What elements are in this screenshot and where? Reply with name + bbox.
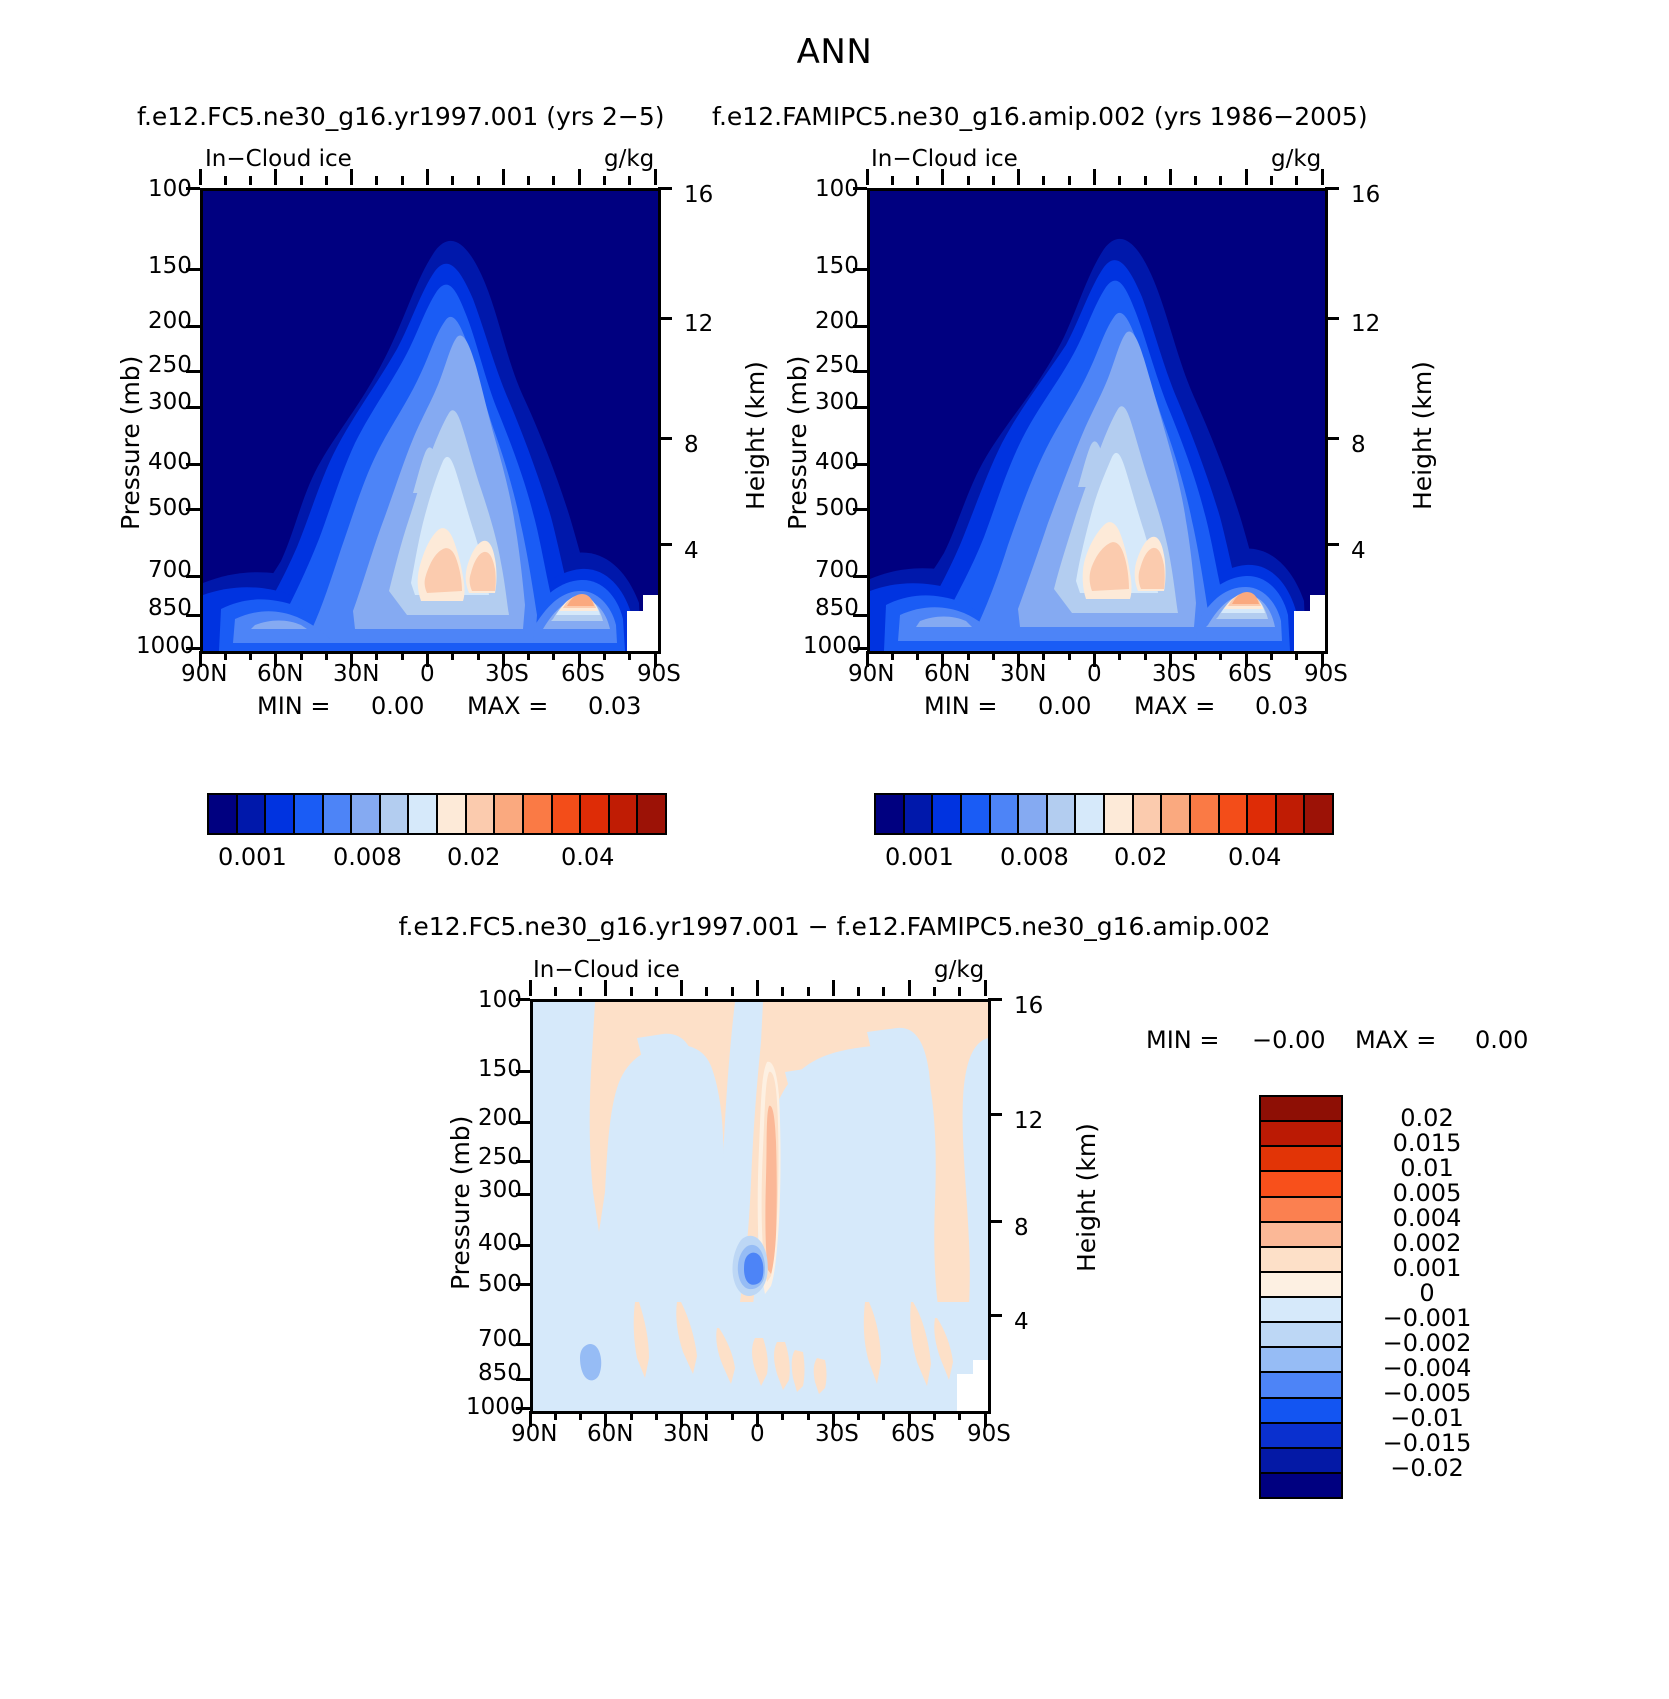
axis-tick — [967, 651, 970, 660]
height-tick-label: 12 — [1014, 1108, 1043, 1134]
axis-tick — [680, 980, 683, 996]
axis-tick — [853, 614, 867, 617]
pressure-tick-label: 250 — [478, 1144, 522, 1170]
axis-tick — [1325, 187, 1339, 190]
axis-tick — [1017, 651, 1020, 667]
axis-tick — [857, 1411, 860, 1420]
colorbar-swatch — [352, 795, 381, 833]
axis-tick — [781, 1411, 784, 1420]
colorbar-tick-label: 0 — [1352, 1279, 1502, 1307]
colorbar-swatch — [991, 795, 1020, 833]
axis-tick — [300, 176, 303, 185]
figure-season-title: ANN — [0, 32, 1669, 72]
axis-tick — [325, 651, 328, 660]
axis-tick — [516, 998, 530, 1001]
axis-tick — [658, 543, 672, 546]
axis-tick — [1118, 176, 1121, 185]
colorbar-swatch — [524, 795, 553, 833]
diff-panel-min-label: MIN = — [1146, 1026, 1219, 1054]
height-tick-label: 16 — [684, 182, 713, 208]
pressure-tick-label: 700 — [815, 557, 859, 583]
axis-tick — [933, 987, 936, 996]
axis-tick — [516, 1121, 530, 1124]
axis-tick — [1042, 176, 1045, 185]
axis-tick — [984, 980, 987, 996]
axis-tick — [866, 651, 869, 667]
colorbar-tick-label: 0.015 — [1352, 1129, 1502, 1157]
axis-tick — [186, 370, 200, 373]
colorbar-tick-label: −0.004 — [1352, 1354, 1502, 1382]
colorbar-swatch — [553, 795, 582, 833]
axis-tick — [603, 651, 606, 660]
colorbar-swatch — [1261, 1223, 1341, 1248]
colorbar-tick-label: −0.002 — [1352, 1329, 1502, 1357]
axis-tick — [958, 1411, 961, 1420]
lat-tick-label: 30S — [815, 1421, 859, 1447]
axis-tick — [516, 1343, 530, 1346]
colorbar-tick-label: 0.008 — [1000, 843, 1069, 871]
left-panel-y2-axis-label: Height (km) — [741, 361, 770, 510]
axis-tick — [516, 1193, 530, 1196]
axis-tick — [516, 1407, 530, 1410]
diff-panel-max-value: 0.00 — [1475, 1026, 1528, 1054]
diff-panel-min-value: −0.00 — [1252, 1026, 1326, 1054]
colorbar-tick-label: 0.001 — [218, 843, 287, 871]
axis-tick — [426, 169, 429, 185]
colorbar-tick-label: 0.002 — [1352, 1229, 1502, 1257]
lat-tick-label: 60S — [1228, 661, 1272, 687]
axis-tick — [249, 651, 252, 660]
axis-tick — [1093, 169, 1096, 185]
axis-tick — [274, 169, 277, 185]
axis-tick — [1325, 437, 1339, 440]
axis-tick — [941, 169, 944, 185]
axis-tick — [655, 987, 658, 996]
colorbar-tick-label: 0.04 — [1228, 843, 1281, 871]
lat-tick-label: 60N — [257, 661, 303, 687]
axis-tick — [1068, 651, 1071, 660]
right-panel-header-units: g/kg — [1271, 146, 1321, 172]
lat-tick-label: 30S — [485, 661, 529, 687]
pressure-tick-label: 400 — [148, 449, 192, 475]
colorbar-swatch — [1261, 1424, 1341, 1449]
lat-tick-label: 60N — [587, 1421, 633, 1447]
axis-tick — [1245, 651, 1248, 667]
axis-tick — [578, 651, 581, 667]
lat-tick-label: 30N — [1000, 661, 1046, 687]
right-panel-title: f.e12.FAMIPC5.ne30_g16.amip.002 (yrs 198… — [712, 102, 1368, 131]
axis-tick — [604, 980, 607, 996]
axis-tick — [916, 651, 919, 660]
height-tick-label: 8 — [684, 432, 699, 458]
axis-tick — [426, 651, 429, 667]
axis-tick — [853, 463, 867, 466]
colorbar-swatch — [1261, 1449, 1341, 1474]
lat-tick-label: 90N — [848, 661, 894, 687]
axis-tick — [224, 651, 227, 660]
colorbar-swatch — [1261, 1248, 1341, 1273]
lat-tick-label: 30N — [333, 661, 379, 687]
axis-tick — [199, 169, 202, 185]
colorbar-swatch — [933, 795, 962, 833]
pressure-tick-label: 200 — [815, 308, 859, 334]
axis-tick — [1321, 169, 1324, 185]
axis-tick — [988, 998, 1002, 1001]
axis-tick — [502, 651, 505, 667]
axis-tick — [984, 1411, 987, 1427]
colorbar-tick-label: 0.008 — [333, 843, 402, 871]
axis-tick — [658, 187, 672, 190]
left-panel-plot-area — [200, 188, 661, 654]
axis-tick — [988, 1220, 1002, 1223]
axis-tick — [853, 406, 867, 409]
axis-tick — [1219, 651, 1222, 660]
axis-tick — [186, 575, 200, 578]
height-tick-label: 12 — [1351, 311, 1380, 337]
colorbar-swatch — [1248, 795, 1277, 833]
axis-tick — [516, 1283, 530, 1286]
axis-tick — [578, 169, 581, 185]
right-panel-y2-axis-label: Height (km) — [1408, 361, 1437, 510]
left-panel-min-value: 0.00 — [371, 692, 424, 720]
axis-tick — [350, 651, 353, 667]
colorbar-swatch — [209, 795, 238, 833]
axis-tick — [630, 1411, 633, 1420]
axis-tick — [1245, 169, 1248, 185]
height-tick-label: 4 — [1351, 538, 1366, 564]
axis-tick — [853, 575, 867, 578]
colorbar-swatch — [1261, 1147, 1341, 1172]
diff-panel-max-label: MAX = — [1355, 1026, 1436, 1054]
colorbar-swatch — [1261, 1172, 1341, 1197]
axis-tick — [554, 1411, 557, 1420]
left-panel-header-units: g/kg — [604, 146, 654, 172]
colorbar-swatch — [409, 795, 438, 833]
axis-tick — [1270, 176, 1273, 185]
axis-tick — [853, 325, 867, 328]
axis-tick — [1270, 651, 1273, 660]
axis-tick — [199, 651, 202, 667]
lat-tick-label: 30S — [1152, 661, 1196, 687]
left-panel-colorbar[interactable] — [207, 793, 667, 835]
axis-tick — [731, 1411, 734, 1420]
axis-tick — [249, 176, 252, 185]
axis-tick — [186, 325, 200, 328]
pressure-tick-label: 150 — [815, 253, 859, 279]
axis-tick — [1325, 317, 1339, 320]
colorbar-swatch — [1261, 1348, 1341, 1373]
lat-tick-label: 60S — [891, 1421, 935, 1447]
colorbar-swatch — [1076, 795, 1105, 833]
lat-tick-label: 90N — [511, 1421, 557, 1447]
colorbar-swatch — [295, 795, 324, 833]
axis-tick — [552, 651, 555, 660]
axis-tick — [529, 1411, 532, 1427]
colorbar-tick-label: −0.005 — [1352, 1379, 1502, 1407]
right-panel-header-variable: In−Cloud ice — [871, 146, 1018, 172]
axis-tick — [1169, 169, 1172, 185]
axis-tick — [853, 370, 867, 373]
lat-tick-label: 30N — [663, 1421, 709, 1447]
colorbar-tick-label: 0.004 — [1352, 1204, 1502, 1232]
axis-tick — [1068, 176, 1071, 185]
pressure-tick-label: 300 — [148, 389, 192, 415]
lat-tick-label: 60S — [561, 661, 605, 687]
lat-tick-label: 60N — [924, 661, 970, 687]
diff-panel-y-axis-label: Pressure (mb) — [446, 1116, 475, 1290]
axis-tick — [680, 1411, 683, 1427]
axis-tick — [891, 651, 894, 660]
axis-tick — [579, 987, 582, 996]
pressure-tick-label: 200 — [478, 1105, 522, 1131]
axis-tick — [579, 1411, 582, 1420]
axis-tick — [1295, 651, 1298, 660]
right-panel-plot-area — [867, 188, 1328, 654]
axis-tick — [1219, 176, 1222, 185]
colorbar-tick-label: −0.001 — [1352, 1304, 1502, 1332]
left-panel-max-value: 0.03 — [588, 692, 641, 720]
left-panel-min-label: MIN = — [257, 692, 330, 720]
axis-tick — [756, 1411, 759, 1427]
pressure-tick-label: 700 — [148, 557, 192, 583]
axis-tick — [853, 187, 867, 190]
pressure-tick-label: 300 — [815, 389, 859, 415]
colorbar-swatch — [266, 795, 295, 833]
axis-tick — [516, 1244, 530, 1247]
axis-tick — [477, 176, 480, 185]
colorbar-swatch — [638, 795, 665, 833]
diff-panel-header-units: g/kg — [934, 957, 984, 983]
axis-tick — [832, 1411, 835, 1427]
right-panel-max-label: MAX = — [1134, 692, 1215, 720]
diff-panel-colorbar-labels: 0.020.0150.010.0050.0040.0020.0010−0.001… — [1352, 1095, 1512, 1495]
axis-tick — [375, 651, 378, 660]
axis-tick — [658, 437, 672, 440]
axis-tick — [529, 980, 532, 996]
pressure-tick-label: 150 — [148, 253, 192, 279]
axis-tick — [1321, 651, 1324, 667]
diff-panel-y2-axis-label: Height (km) — [1072, 1123, 1101, 1272]
pressure-tick-label: 250 — [815, 352, 859, 378]
axis-tick — [603, 176, 606, 185]
colorbar-tick-label: 0.01 — [1352, 1154, 1502, 1182]
axis-tick — [186, 647, 200, 650]
axis-tick — [1042, 651, 1045, 660]
axis-tick — [1144, 176, 1147, 185]
height-tick-label: 16 — [1014, 993, 1043, 1019]
axis-tick — [891, 176, 894, 185]
axis-tick — [477, 651, 480, 660]
colorbar-swatch — [1261, 1122, 1341, 1147]
colorbar-swatch — [1048, 795, 1077, 833]
colorbar-swatch — [1261, 1323, 1341, 1348]
diff-panel-title: f.e12.FC5.ne30_g16.yr1997.001 − f.e12.FA… — [0, 912, 1669, 941]
axis-tick — [451, 651, 454, 660]
lat-tick-label: 90S — [967, 1421, 1011, 1447]
axis-tick — [516, 1378, 530, 1381]
left-panel-header-variable: In−Cloud ice — [205, 146, 352, 172]
axis-tick — [1325, 543, 1339, 546]
pressure-tick-label: 400 — [815, 449, 859, 475]
colorbar-swatch — [1261, 1399, 1341, 1424]
diff-panel-colorbar[interactable] — [1259, 1095, 1343, 1499]
pressure-tick-label: 250 — [148, 352, 192, 378]
axis-tick — [705, 1411, 708, 1420]
axis-tick — [853, 508, 867, 511]
axis-tick — [731, 987, 734, 996]
right-panel-y-axis-label: Pressure (mb) — [783, 356, 812, 530]
right-panel-min-value: 0.00 — [1038, 692, 1091, 720]
left-panel-y-axis-label: Pressure (mb) — [116, 356, 145, 530]
right-panel-colorbar[interactable] — [874, 793, 1334, 835]
axis-tick — [375, 176, 378, 185]
axis-tick — [186, 508, 200, 511]
axis-tick — [807, 1411, 810, 1420]
axis-tick — [628, 176, 631, 185]
axis-tick — [630, 987, 633, 996]
colorbar-swatch — [1261, 1273, 1341, 1298]
right-panel-max-value: 0.03 — [1255, 692, 1308, 720]
height-tick-label: 8 — [1351, 432, 1366, 458]
axis-tick — [1144, 651, 1147, 660]
height-tick-label: 16 — [1351, 182, 1380, 208]
axis-tick — [554, 987, 557, 996]
axis-tick — [654, 169, 657, 185]
axis-tick — [1093, 651, 1096, 667]
colorbar-swatch — [1134, 795, 1163, 833]
axis-tick — [654, 651, 657, 667]
colorbar-swatch — [876, 795, 905, 833]
colorbar-swatch — [1191, 795, 1220, 833]
colorbar-swatch — [905, 795, 934, 833]
axis-tick — [604, 1411, 607, 1427]
colorbar-swatch — [238, 795, 267, 833]
axis-tick — [552, 176, 555, 185]
colorbar-swatch — [381, 795, 410, 833]
colorbar-swatch — [495, 795, 524, 833]
height-tick-label: 12 — [684, 311, 713, 337]
colorbar-swatch — [467, 795, 496, 833]
axis-tick — [516, 1070, 530, 1073]
colorbar-swatch — [1261, 1097, 1341, 1122]
axis-tick — [186, 406, 200, 409]
axis-tick — [857, 987, 860, 996]
axis-tick — [988, 1113, 1002, 1116]
axis-tick — [807, 987, 810, 996]
axis-tick — [325, 176, 328, 185]
axis-tick — [756, 980, 759, 996]
axis-tick — [908, 1411, 911, 1427]
axis-tick — [186, 463, 200, 466]
axis-tick — [705, 987, 708, 996]
pressure-tick-label: 300 — [478, 1177, 522, 1203]
axis-tick — [186, 268, 200, 271]
colorbar-tick-label: 0.001 — [885, 843, 954, 871]
colorbar-swatch — [324, 795, 353, 833]
lat-tick-label: 90N — [181, 661, 227, 687]
axis-tick — [1194, 651, 1197, 660]
left-panel-contour-field — [203, 191, 658, 651]
axis-tick — [866, 169, 869, 185]
colorbar-swatch — [1105, 795, 1134, 833]
left-panel-max-label: MAX = — [467, 692, 548, 720]
axis-tick — [401, 651, 404, 660]
axis-tick — [516, 1160, 530, 1163]
lat-tick-label: 90S — [1304, 661, 1348, 687]
colorbar-tick-label: −0.02 — [1352, 1454, 1502, 1482]
axis-tick — [350, 169, 353, 185]
height-tick-label: 8 — [1014, 1215, 1029, 1241]
colorbar-tick-label: 0.005 — [1352, 1179, 1502, 1207]
axis-tick — [655, 1411, 658, 1420]
axis-tick — [882, 1411, 885, 1420]
right-panel-min-label: MIN = — [924, 692, 997, 720]
axis-tick — [992, 176, 995, 185]
axis-tick — [451, 176, 454, 185]
colorbar-swatch — [1277, 795, 1306, 833]
axis-tick — [1169, 651, 1172, 667]
axis-tick — [274, 651, 277, 667]
axis-tick — [658, 317, 672, 320]
axis-tick — [1118, 651, 1121, 660]
diff-panel-plot-area — [530, 999, 991, 1414]
axis-tick — [186, 187, 200, 190]
colorbar-swatch — [1162, 795, 1191, 833]
axis-tick — [527, 176, 530, 185]
pressure-tick-label: 850 — [815, 595, 859, 621]
pressure-tick-label: 200 — [148, 308, 192, 334]
axis-tick — [967, 176, 970, 185]
axis-tick — [186, 614, 200, 617]
diff-panel-contour-field — [533, 1002, 988, 1411]
axis-tick — [933, 1411, 936, 1420]
lat-tick-label: 90S — [637, 661, 681, 687]
axis-tick — [916, 176, 919, 185]
colorbar-tick-label: 0.04 — [561, 843, 614, 871]
axis-tick — [502, 169, 505, 185]
colorbar-tick-label: 0.001 — [1352, 1254, 1502, 1282]
pressure-tick-label: 700 — [478, 1326, 522, 1352]
axis-tick — [1194, 176, 1197, 185]
height-tick-label: 4 — [684, 538, 699, 564]
axis-tick — [992, 651, 995, 660]
axis-tick — [781, 987, 784, 996]
colorbar-swatch — [610, 795, 639, 833]
axis-tick — [958, 987, 961, 996]
axis-tick — [401, 176, 404, 185]
axis-tick — [527, 651, 530, 660]
axis-tick — [908, 980, 911, 996]
colorbar-swatch — [1305, 795, 1332, 833]
colorbar-tick-label: 0.02 — [447, 843, 500, 871]
axis-tick — [224, 176, 227, 185]
colorbar-swatch — [962, 795, 991, 833]
pressure-tick-label: 850 — [148, 595, 192, 621]
axis-tick — [1295, 176, 1298, 185]
axis-tick — [628, 651, 631, 660]
left-panel-title: f.e12.FC5.ne30_g16.yr1997.001 (yrs 2−5) — [137, 102, 665, 131]
axis-tick — [853, 647, 867, 650]
colorbar-tick-label: 0.02 — [1114, 843, 1167, 871]
axis-tick — [988, 1314, 1002, 1317]
right-panel-contour-field — [870, 191, 1325, 651]
axis-tick — [853, 268, 867, 271]
colorbar-swatch — [1261, 1298, 1341, 1323]
colorbar-swatch — [438, 795, 467, 833]
colorbar-tick-label: 0.02 — [1352, 1104, 1502, 1132]
colorbar-swatch — [1019, 795, 1048, 833]
axis-tick — [882, 987, 885, 996]
